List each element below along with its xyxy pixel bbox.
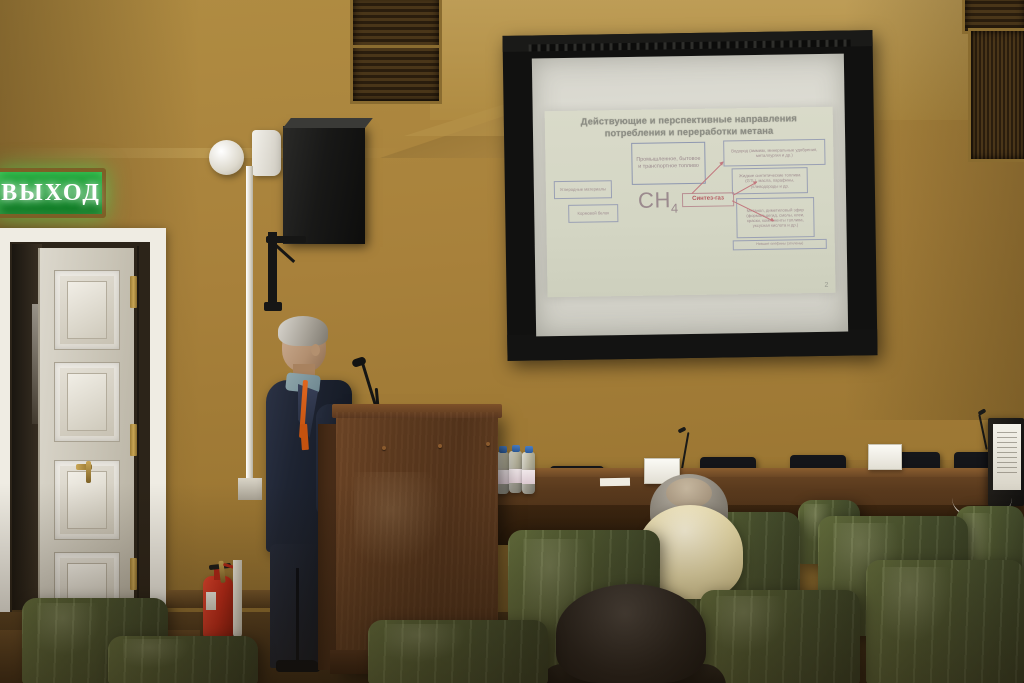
- slide-box-feed-protein: Кормовой белок: [568, 204, 618, 223]
- exit-sign-label: ВЫХОД: [1, 180, 101, 207]
- projection-screen: Действующие и перспективные направления …: [502, 30, 877, 361]
- presenter-hair: [278, 316, 328, 346]
- door-hinge-icon: [130, 424, 137, 456]
- slide-box-fuel: Промышленное, бытовое и транспортное топ…: [631, 142, 706, 185]
- pa-speaker-bracket: [266, 232, 306, 310]
- slide-methane-formula: CH4: [638, 187, 679, 216]
- presenter-ear: [311, 344, 320, 356]
- slide-box-carbon-materials: Углеродные материалы: [554, 180, 612, 199]
- slide-number: 2: [824, 282, 828, 289]
- slide-title: Действующие и перспективные направления …: [553, 112, 825, 139]
- door-panel: [54, 270, 120, 350]
- conference-hall-photo: ВЫХОД: [0, 0, 1024, 683]
- screen-surface: Действующие и перспективные направления …: [532, 54, 848, 337]
- dome-light-icon: [209, 140, 244, 175]
- door-panel: [54, 362, 120, 442]
- slide-box-methanol: Метанол, диметиловый эфир (формальдегид,…: [736, 197, 815, 238]
- slide-box-hydrogen: Водород (аммиак, минеральные удобрения, …: [723, 139, 825, 167]
- pa-speaker-icon: [283, 126, 365, 244]
- ventilation-grille-icon: [968, 28, 1024, 162]
- presentation-slide: Действующие и перспективные направления …: [545, 107, 836, 298]
- slide-box-syngas: Синтез-газ: [682, 192, 734, 207]
- wall-speaker-small-icon: [252, 130, 281, 176]
- scene-vignette: [0, 483, 1024, 683]
- nameplate: [868, 444, 902, 470]
- ventilation-grille-icon: [350, 0, 442, 104]
- door-handle-icon[interactable]: [76, 464, 92, 470]
- slide-box-olefins: Низшие олефины (этилены): [733, 239, 827, 250]
- wall-conduit-pipe: [246, 166, 253, 496]
- exit-sign-icon: ВЫХОД: [0, 168, 106, 218]
- door-hinge-icon: [130, 276, 137, 308]
